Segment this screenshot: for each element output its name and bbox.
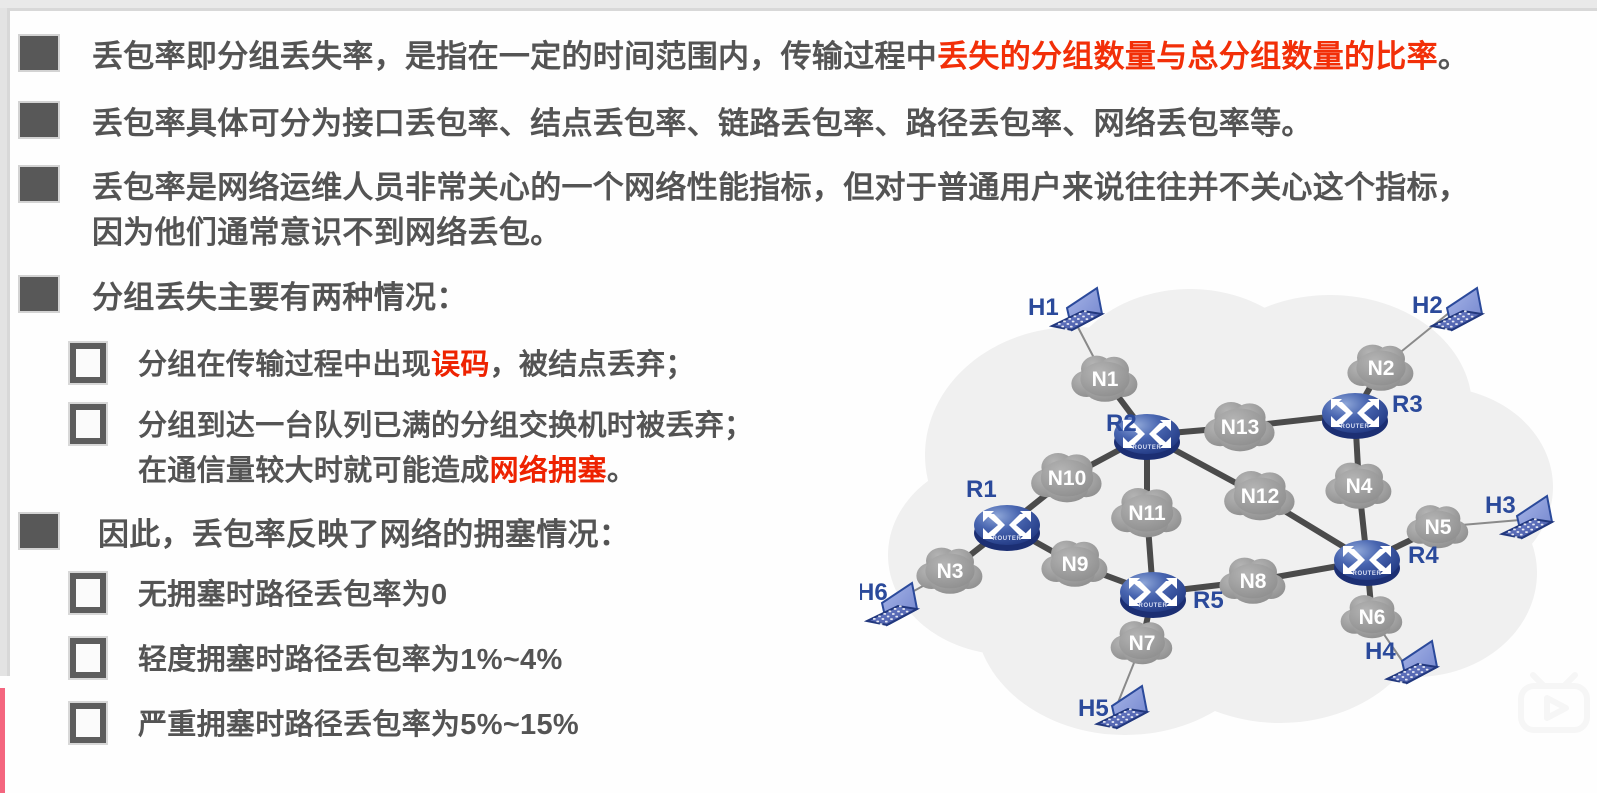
router-node-R4: ROUTER — [1334, 540, 1400, 586]
bullet-text: 丢包率具体可分为接口丢包率、结点丢包率、链路丢包率、路径丢包率、网络丢包率等。 — [92, 101, 1313, 146]
bullet-text-segment: 丢包率即分组丢失率，是指在一定的时间范围内，传输过程中 — [92, 39, 937, 74]
slide: 丢包率即分组丢失率，是指在一定的时间范围内，传输过程中丢失的分组数量与总分组数量… — [0, 0, 1597, 793]
cloud-label-N3: N3 — [937, 560, 964, 583]
hollow-square-bullet-icon — [70, 703, 106, 743]
router-caption: ROUTER — [993, 536, 1022, 542]
sub-bullet-text-segment: 分组在传输过程中出现 — [138, 349, 431, 381]
cloud-label-N2: N2 — [1368, 357, 1395, 380]
cloud-label-N6: N6 — [1359, 606, 1386, 629]
cloud-label-N11: N11 — [1128, 502, 1166, 525]
bullet-item: 因此，丢包率反映了网络的拥塞情况： — [18, 512, 630, 557]
host-label-H5: H5 — [1078, 695, 1109, 722]
sub-bullet-text: 分组在传输过程中出现误码，被结点丢弃； — [138, 343, 695, 388]
sub-bullet-text: 轻度拥塞时路径丢包率为1%~4% — [138, 638, 563, 683]
network-topology-diagram: N1N2N3N4N5N6N7N8N9N10N11N12N13 ROUTERROU… — [860, 255, 1597, 793]
filled-square-bullet-icon — [18, 34, 60, 72]
cloud-label-N8: N8 — [1240, 570, 1267, 593]
sub-bullet-item: 无拥塞时路径丢包率为0 — [70, 573, 447, 618]
bullet-text-block: 丢包率是网络运维人员非常关心的一个网络性能指标，但对于普通用户来说往往并不关心这… — [92, 165, 1469, 255]
router-label-R2: R2 — [1106, 410, 1137, 437]
sub-bullet-text-highlight: 误码 — [431, 349, 490, 381]
bullet-text-segment: 。 — [1438, 39, 1469, 74]
bullet-item: 丢包率即分组丢失率，是指在一定的时间范围内，传输过程中丢失的分组数量与总分组数量… — [18, 34, 1578, 79]
router-label-R4: R4 — [1408, 542, 1439, 569]
bullet-text: 丢包率是网络运维人员非常关心的一个网络性能指标，但对于普通用户来说往往并不关心这… — [92, 165, 1469, 210]
cloud-label-N7: N7 — [1129, 632, 1156, 655]
cloud-label-N13: N13 — [1221, 416, 1260, 439]
bullet-item: 分组丢失主要有两种情况： — [18, 275, 468, 320]
bullet-text: 因此，丢包率反映了网络的拥塞情况： — [98, 512, 630, 557]
bullet-text-highlight: 丢失的分组数量与总分组数量的比率 — [937, 39, 1438, 74]
cloud-label-N12: N12 — [1241, 485, 1280, 508]
router-caption: ROUTER — [1139, 603, 1168, 609]
hollow-square-bullet-icon — [70, 343, 106, 383]
hollow-square-bullet-icon — [70, 638, 106, 678]
host-label-H6: H6 — [860, 579, 888, 606]
host-label-H1: H1 — [1028, 294, 1059, 321]
sub-bullet-text: 分组到达一台队列已满的分组交换机时被丢弃； — [138, 404, 753, 449]
host-label-H3: H3 — [1485, 492, 1516, 519]
filled-square-bullet-icon — [18, 512, 60, 550]
router-caption: ROUTER — [1133, 445, 1162, 451]
hollow-square-bullet-icon — [70, 404, 106, 444]
cloud-label-N10: N10 — [1048, 467, 1087, 490]
router-label-R1: R1 — [966, 476, 997, 503]
bilibili-tv-logo-watermark — [1513, 665, 1591, 737]
cloud-label-N9: N9 — [1062, 553, 1089, 576]
sub-bullet-text-segment: 。 — [607, 455, 636, 487]
sub-bullet-item: 严重拥塞时路径丢包率为5%~15% — [70, 703, 579, 748]
cloud-label-N4: N4 — [1346, 475, 1373, 498]
bullet-text: 丢包率即分组丢失率，是指在一定的时间范围内，传输过程中丢失的分组数量与总分组数量… — [92, 34, 1469, 79]
sub-bullet-item: 分组到达一台队列已满的分组交换机时被丢弃； 在通信量较大时就可能造成网络拥塞。 — [70, 404, 753, 494]
sub-bullet-item: 轻度拥塞时路径丢包率为1%~4% — [70, 638, 563, 683]
filled-square-bullet-icon — [18, 165, 60, 203]
router-node-R5: ROUTER — [1120, 572, 1186, 618]
sub-bullet-text-highlight: 网络拥塞 — [490, 455, 607, 487]
filled-square-bullet-icon — [18, 275, 60, 313]
router-node-R1: ROUTER — [974, 505, 1040, 551]
bullet-item: 丢包率具体可分为接口丢包率、结点丢包率、链路丢包率、路径丢包率、网络丢包率等。 — [18, 101, 1578, 146]
sub-bullet-item: 分组在传输过程中出现误码，被结点丢弃； — [70, 343, 695, 388]
router-label-R5: R5 — [1193, 587, 1224, 614]
router-caption: ROUTER — [1353, 571, 1382, 577]
sub-bullet-text-segment: 在通信量较大时就可能造成 — [138, 455, 490, 487]
bullet-text-segment: 丢包率具体可分为接口丢包率、结点丢包率、链路丢包率、路径丢包率、网络丢包率等。 — [92, 106, 1313, 141]
sub-bullet-text-segment: ，被结点丢弃； — [490, 349, 695, 381]
sub-bullet-text-line2: 在通信量较大时就可能造成网络拥塞。 — [138, 449, 753, 494]
sub-bullet-text-block: 分组到达一台队列已满的分组交换机时被丢弃； 在通信量较大时就可能造成网络拥塞。 — [138, 404, 753, 494]
router-caption: ROUTER — [1341, 424, 1370, 430]
host-label-H4: H4 — [1365, 638, 1396, 665]
sub-bullet-text: 无拥塞时路径丢包率为0 — [138, 573, 447, 618]
cloud-label-N5: N5 — [1425, 516, 1452, 539]
cloud-label-N1: N1 — [1092, 368, 1119, 391]
bullet-item: 丢包率是网络运维人员非常关心的一个网络性能指标，但对于普通用户来说往往并不关心这… — [18, 165, 1588, 255]
filled-square-bullet-icon — [18, 101, 60, 139]
bullet-list: 丢包率即分组丢失率，是指在一定的时间范围内，传输过程中丢失的分组数量与总分组数量… — [0, 0, 900, 793]
hollow-square-bullet-icon — [70, 573, 106, 613]
bullet-text-line2: 因为他们通常意识不到网络丢包。 — [92, 210, 1469, 255]
bullet-text: 分组丢失主要有两种情况： — [92, 275, 468, 320]
sub-bullet-text: 严重拥塞时路径丢包率为5%~15% — [138, 703, 579, 748]
router-node-R3: ROUTER — [1322, 393, 1388, 439]
host-label-H2: H2 — [1412, 292, 1443, 319]
router-label-R3: R3 — [1392, 391, 1423, 418]
